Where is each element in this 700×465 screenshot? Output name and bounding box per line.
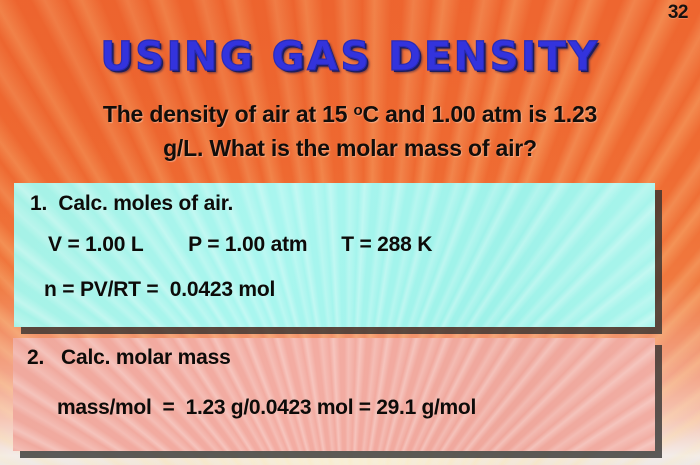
question-line-2: g/L. What is the molar mass of air? — [0, 135, 700, 162]
slide-number: 32 — [668, 2, 688, 24]
step-2-box: 2. Calc. molar mass mass/mol = 1.23 g/0.… — [13, 338, 655, 451]
step-2-heading: 2. Calc. molar mass — [27, 346, 655, 370]
question-line-1: The density of air at 15 oC and 1.00 atm… — [0, 101, 700, 128]
page-title: USING GAS DENSITY — [0, 34, 700, 80]
question-text-part-b: C and 1.00 atm is 1.23 — [362, 101, 597, 127]
question-text-part-a: The density of air at 15 — [103, 101, 354, 127]
step-2-result: mass/mol = 1.23 g/0.0423 mol = 29.1 g/mo… — [57, 396, 655, 420]
slide-canvas: 32 USING GAS DENSITY The density of air … — [0, 0, 700, 465]
step-1-heading: 1. Calc. moles of air. — [30, 192, 655, 216]
step-1-box: 1. Calc. moles of air. V = 1.00 L P = 1.… — [14, 183, 655, 327]
step-1-result: n = PV/RT = 0.0423 mol — [44, 278, 655, 302]
step-1-variables: V = 1.00 L P = 1.00 atm T = 288 K — [48, 233, 655, 257]
